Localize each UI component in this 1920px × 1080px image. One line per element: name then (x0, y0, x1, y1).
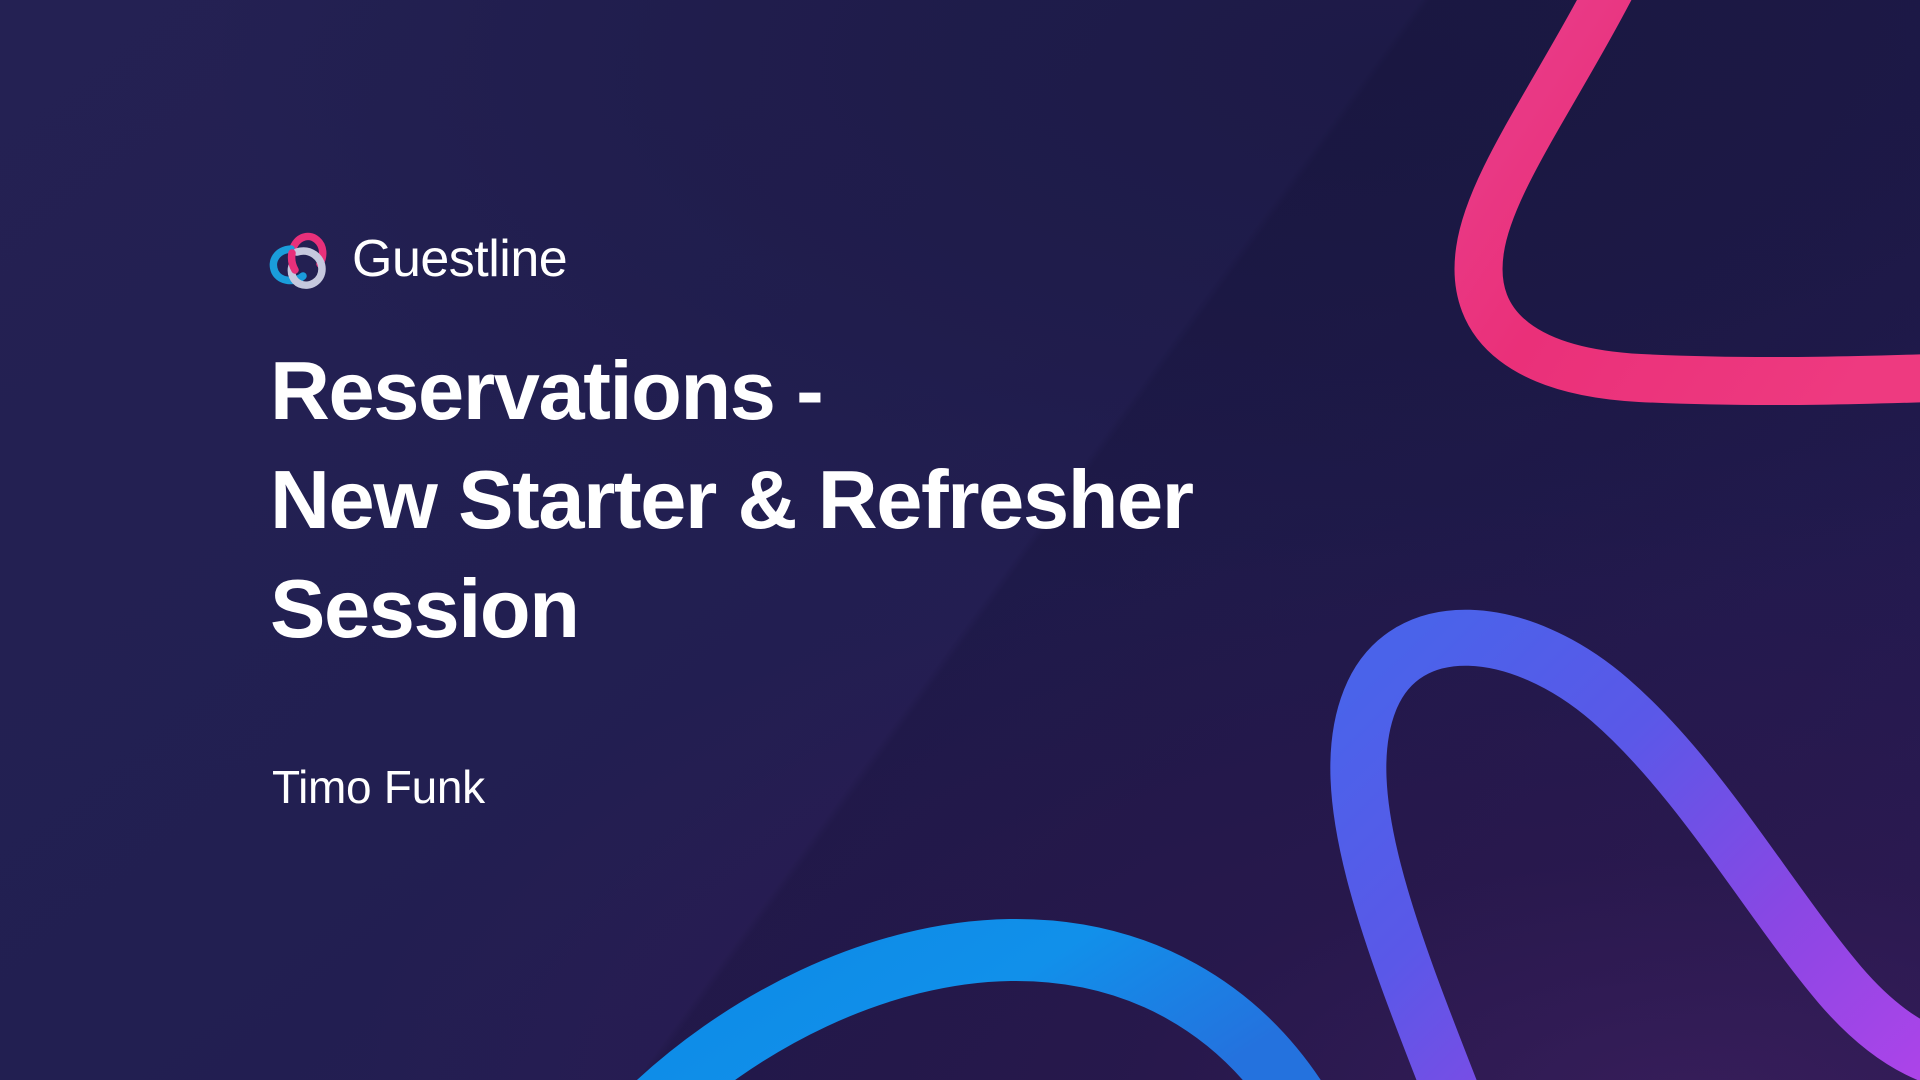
slide-title: Reservations - New Starter & Refresher S… (270, 336, 1570, 663)
presentation-title-slide: Guestline Reservations - New Starter & R… (0, 0, 1920, 1080)
guestline-logo: Guestline (264, 222, 567, 296)
title-line-2: New Starter & Refresher (270, 445, 1570, 554)
presenter-name: Timo Funk (272, 760, 485, 815)
title-line-3: Session (270, 554, 1570, 663)
guestline-wordmark: Guestline (352, 233, 567, 285)
guestline-interlocking-rings-logo-icon (264, 222, 338, 296)
title-line-1: Reservations - (270, 336, 1570, 445)
